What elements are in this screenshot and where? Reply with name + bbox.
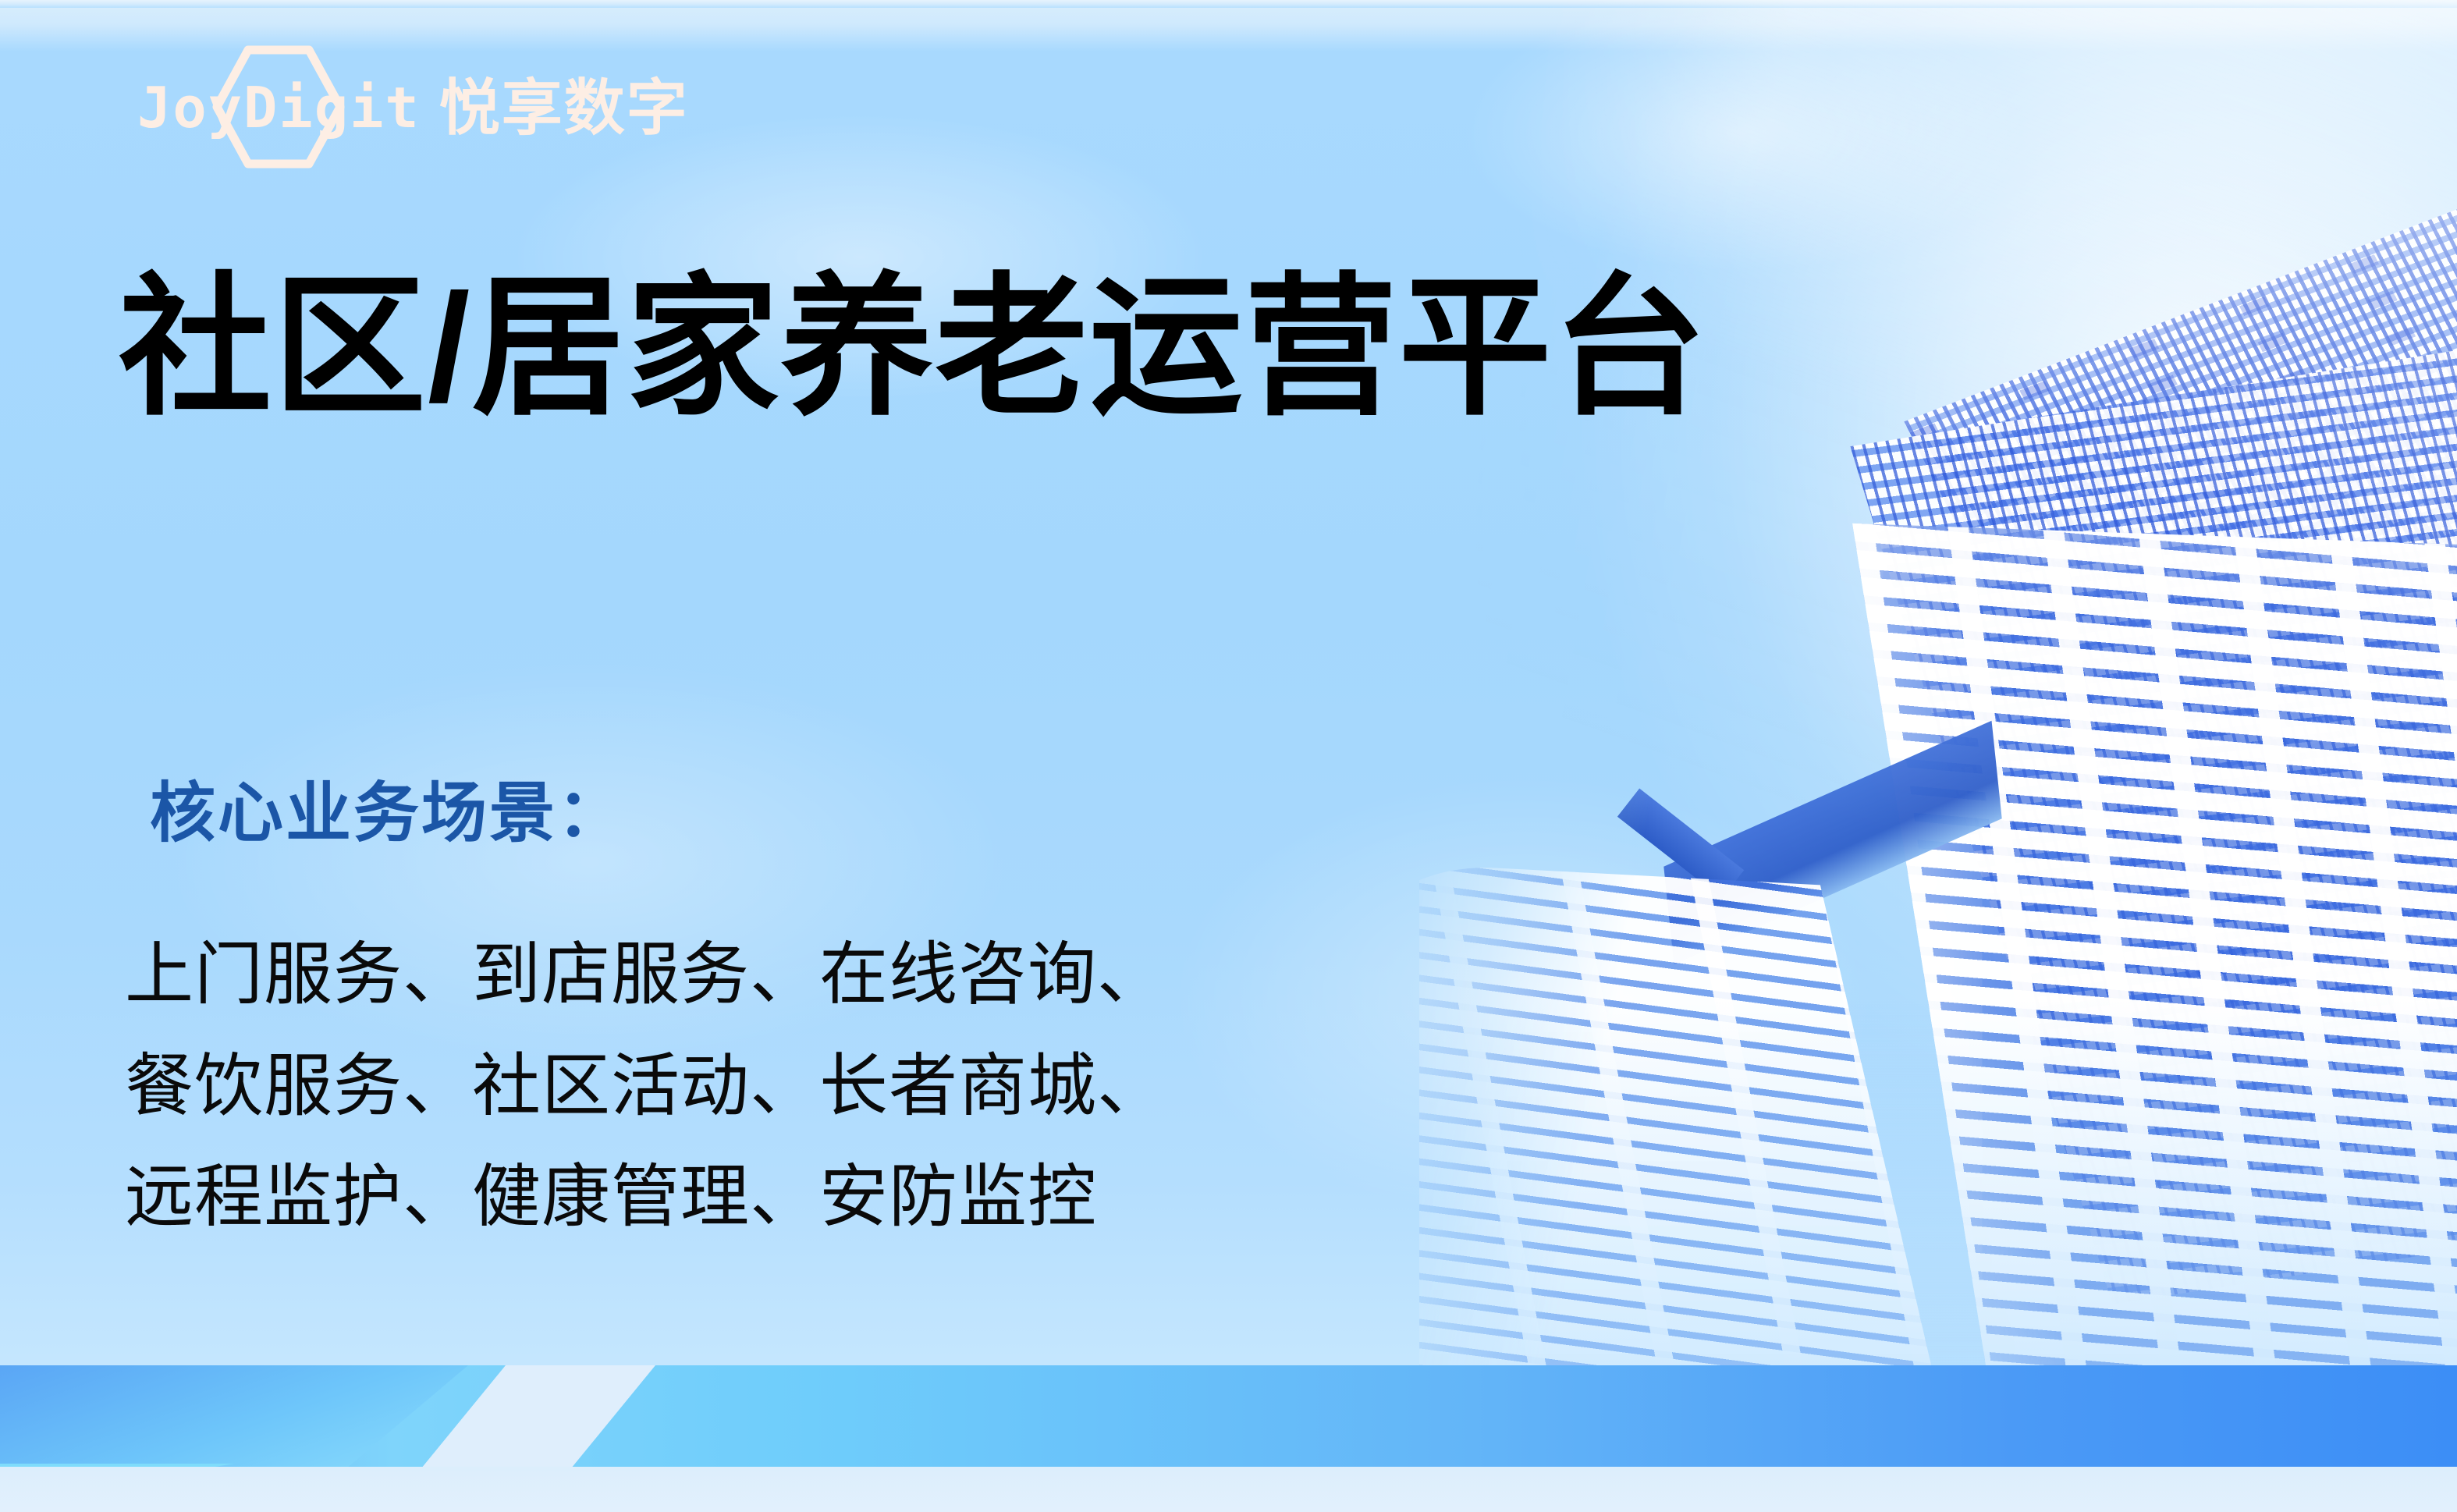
page-title: 社区/居家养老运营平台: [119, 257, 1707, 438]
scenario-line: 上门服务、到店服务、在线咨询、: [125, 919, 1166, 1031]
scenario-line: 餐饮服务、社区活动、长者商城、: [125, 1031, 1166, 1142]
scenario-line: 远程监护、健康管理、安防监控: [125, 1141, 1166, 1253]
slide-root: JoyDigit 悦享数字 社区/居家养老运营平台 核心业务场景： 上门服务、到…: [0, 0, 2457, 1512]
building-near-pillars: [1852, 524, 2457, 1389]
logo-wordmark-latin: JoyDigit: [137, 80, 421, 136]
logo-wordmark-chinese: 悦享数字: [439, 77, 689, 138]
footer-bottom-strip: [0, 1467, 2457, 1512]
skyscraper-image: [1419, 0, 2457, 1389]
scenario-list: 上门服务、到店服务、在线咨询、 餐饮服务、社区活动、长者商城、 远程监护、健康管…: [125, 919, 1166, 1253]
section-heading: 核心业务场景：: [150, 780, 625, 846]
building-curved-block-pillars: [1419, 857, 1954, 1389]
brand-logo: JoyDigit 悦享数字: [137, 61, 689, 154]
